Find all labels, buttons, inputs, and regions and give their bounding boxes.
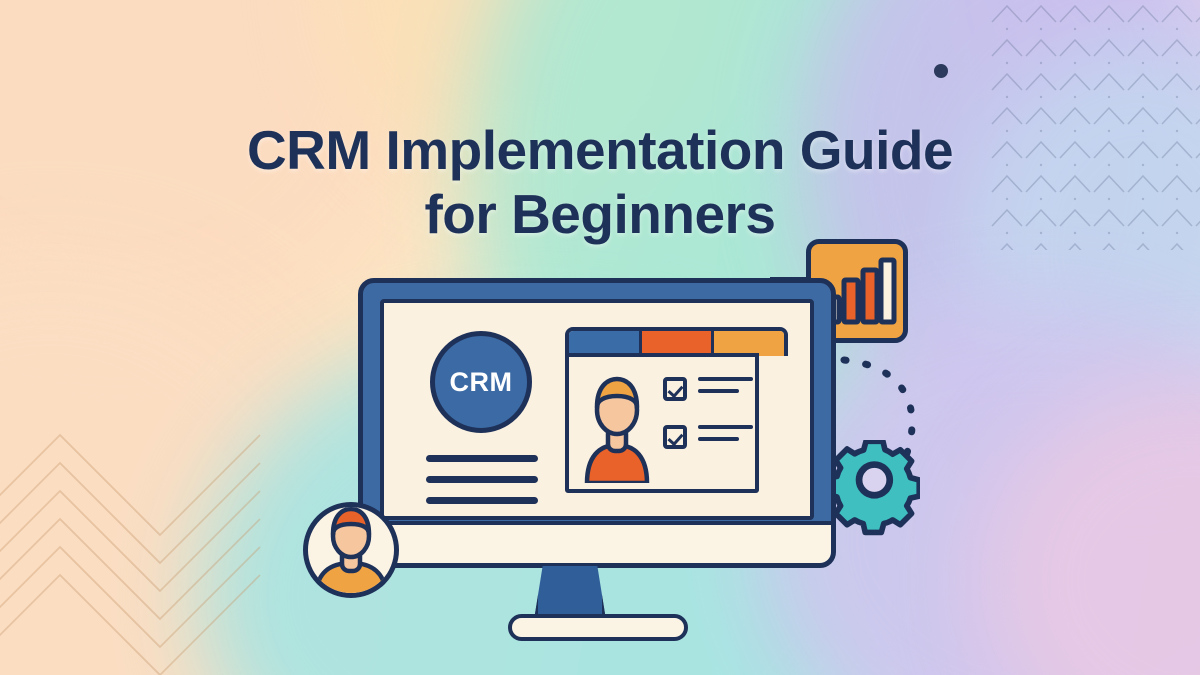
text-line — [426, 476, 538, 483]
monitor-screen: CRM — [380, 299, 814, 520]
contact-avatar-glyph — [583, 373, 651, 483]
monitor-stand-neck — [534, 566, 606, 620]
crm-badge: CRM — [430, 331, 532, 433]
text-line — [698, 377, 753, 381]
page-title-line-1: CRM Implementation Guide — [0, 119, 1200, 183]
text-line — [698, 437, 739, 441]
desktop-monitor: CRM — [358, 278, 836, 568]
gear-icon[interactable] — [824, 440, 920, 536]
checklist-item-text — [698, 425, 753, 449]
checkbox-checked-icon[interactable] — [663, 377, 687, 401]
record-card — [565, 327, 788, 493]
text-line — [698, 389, 739, 393]
checklist-item[interactable] — [663, 425, 753, 449]
user-avatar-badge[interactable] — [303, 502, 399, 598]
page-title: CRM Implementation Guide for Beginners — [0, 119, 1200, 247]
monitor-bottom-bezel — [363, 521, 831, 563]
text-line — [698, 425, 753, 429]
checklist-item[interactable] — [663, 377, 753, 401]
checklist — [663, 377, 753, 473]
contact-avatar — [583, 373, 651, 483]
screen-text-lines — [426, 455, 538, 518]
slide-canvas: CRM Implementation Guide for Beginners — [0, 0, 1200, 675]
text-line — [426, 455, 538, 462]
checklist-item-text — [698, 377, 753, 401]
checkbox-checked-icon[interactable] — [663, 425, 687, 449]
gear-glyph — [824, 440, 920, 536]
monitor-stand-base — [508, 614, 688, 641]
record-card-tabs — [565, 327, 788, 356]
crm-badge-label: CRM — [450, 367, 513, 398]
user-avatar-glyph — [308, 507, 394, 593]
record-card-body — [565, 353, 759, 493]
text-line — [426, 497, 538, 504]
page-title-line-2: for Beginners — [0, 183, 1200, 247]
